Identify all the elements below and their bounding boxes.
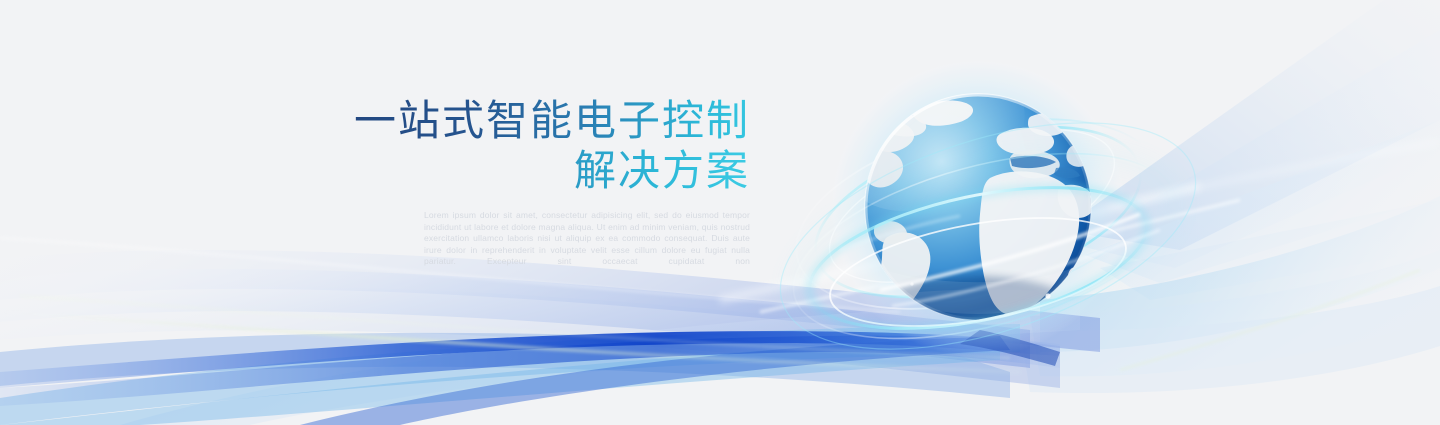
page-title-line2: 解决方案: [330, 146, 750, 196]
body-paragraph: Lorem ipsum dolor sit amet, consectetur …: [424, 210, 750, 268]
hero-banner: 一站式智能电子控制 解决方案 Lorem ipsum dolor sit ame…: [0, 0, 1440, 425]
page-title-line1: 一站式智能电子控制: [330, 96, 750, 146]
hero-text-block: 一站式智能电子控制 解决方案 Lorem ipsum dolor sit ame…: [330, 96, 750, 268]
